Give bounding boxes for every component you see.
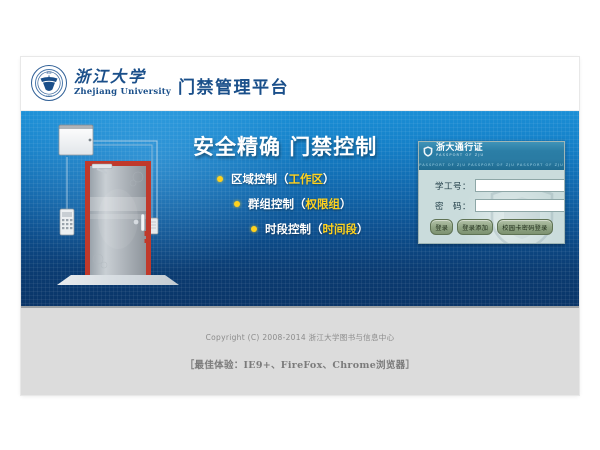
copyright-text: Copyright (C) 2008-2014 浙江大学图书与信息中心 bbox=[21, 308, 579, 343]
university-name-en: Zhejiang University bbox=[74, 88, 171, 97]
list-item: 群组控制（权限组） bbox=[234, 196, 369, 212]
svg-text:1897: 1897 bbox=[46, 95, 52, 98]
login-panel-titlebar: 浙大通行证 PASSPORT OF ZJU bbox=[419, 142, 564, 160]
login-panel-title: 浙大通行证 bbox=[436, 144, 484, 153]
banner-slogan: 安全精确 门禁控制 bbox=[193, 131, 377, 161]
university-name: 浙江大学 Zhejiang University bbox=[74, 69, 171, 97]
hero-banner: 安全精确 门禁控制 区域控制（工作区） 群组控制（权限组） 时段控制（时间段） bbox=[21, 111, 579, 306]
form-row-password: 密 码： bbox=[427, 199, 556, 212]
list-item: 区域控制（工作区） bbox=[217, 171, 369, 187]
page-container: 求是 1897 浙江大学 Zhejiang University 门禁管理平台 bbox=[21, 57, 579, 395]
login-panel-ticker: PASSPORT OF ZJU PASSPORT OF ZJU PASSPORT… bbox=[419, 160, 564, 170]
login-form: 学工号： 密 码： 登录 登录添加 校园卡密码登录 bbox=[419, 170, 564, 243]
userid-input[interactable] bbox=[475, 179, 565, 192]
list-item: 时段控制（时间段） bbox=[251, 221, 369, 237]
access-control-door-illustration bbox=[45, 119, 195, 299]
feature-label: 群组控制（ bbox=[248, 196, 306, 212]
feature-label: 时段控制（ bbox=[265, 221, 323, 237]
userid-label: 学工号： bbox=[427, 180, 471, 192]
bullet-dot-icon bbox=[217, 176, 223, 182]
bullet-dot-icon bbox=[251, 226, 257, 232]
login-button-group: 登录 登录添加 校园卡密码登录 bbox=[427, 219, 556, 235]
site-header: 求是 1897 浙江大学 Zhejiang University 门禁管理平台 bbox=[21, 57, 579, 111]
university-name-cn: 浙江大学 bbox=[74, 69, 171, 85]
site-footer: Copyright (C) 2008-2014 浙江大学图书与信息中心 ［最佳体… bbox=[21, 306, 579, 395]
feature-highlight: 工作区 bbox=[289, 171, 324, 187]
login-button[interactable]: 登录 bbox=[430, 219, 453, 235]
shield-icon bbox=[423, 146, 433, 157]
feature-tail: ） bbox=[357, 221, 369, 237]
login-panel-subtitle: PASSPORT OF ZJU bbox=[436, 154, 484, 158]
brand-logo[interactable]: 求是 1897 浙江大学 Zhejiang University bbox=[31, 65, 171, 101]
form-row-userid: 学工号： bbox=[427, 179, 556, 192]
feature-highlight: 时间段 bbox=[323, 221, 358, 237]
page-title: 门禁管理平台 bbox=[178, 73, 289, 98]
feature-label: 区域控制（ bbox=[231, 171, 289, 187]
password-label: 密 码： bbox=[427, 200, 471, 212]
login-add-button[interactable]: 登录添加 bbox=[457, 219, 493, 235]
bullet-dot-icon bbox=[234, 201, 240, 207]
zju-seal-icon: 求是 1897 bbox=[31, 65, 67, 101]
feature-highlight: 权限组 bbox=[306, 196, 341, 212]
feature-tail: ） bbox=[340, 196, 352, 212]
svg-text:求是: 求是 bbox=[46, 71, 52, 75]
login-panel: 浙大通行证 PASSPORT OF ZJU PASSPORT OF ZJU PA… bbox=[418, 141, 565, 244]
browser-recommendation-text: ［最佳体验：IE9+、FireFox、Chrome浏览器］ bbox=[21, 357, 579, 371]
campus-card-login-button[interactable]: 校园卡密码登录 bbox=[497, 219, 552, 235]
feature-list: 区域控制（工作区） 群组控制（权限组） 时段控制（时间段） bbox=[217, 171, 369, 246]
feature-tail: ） bbox=[323, 171, 335, 187]
password-input[interactable] bbox=[475, 199, 565, 212]
